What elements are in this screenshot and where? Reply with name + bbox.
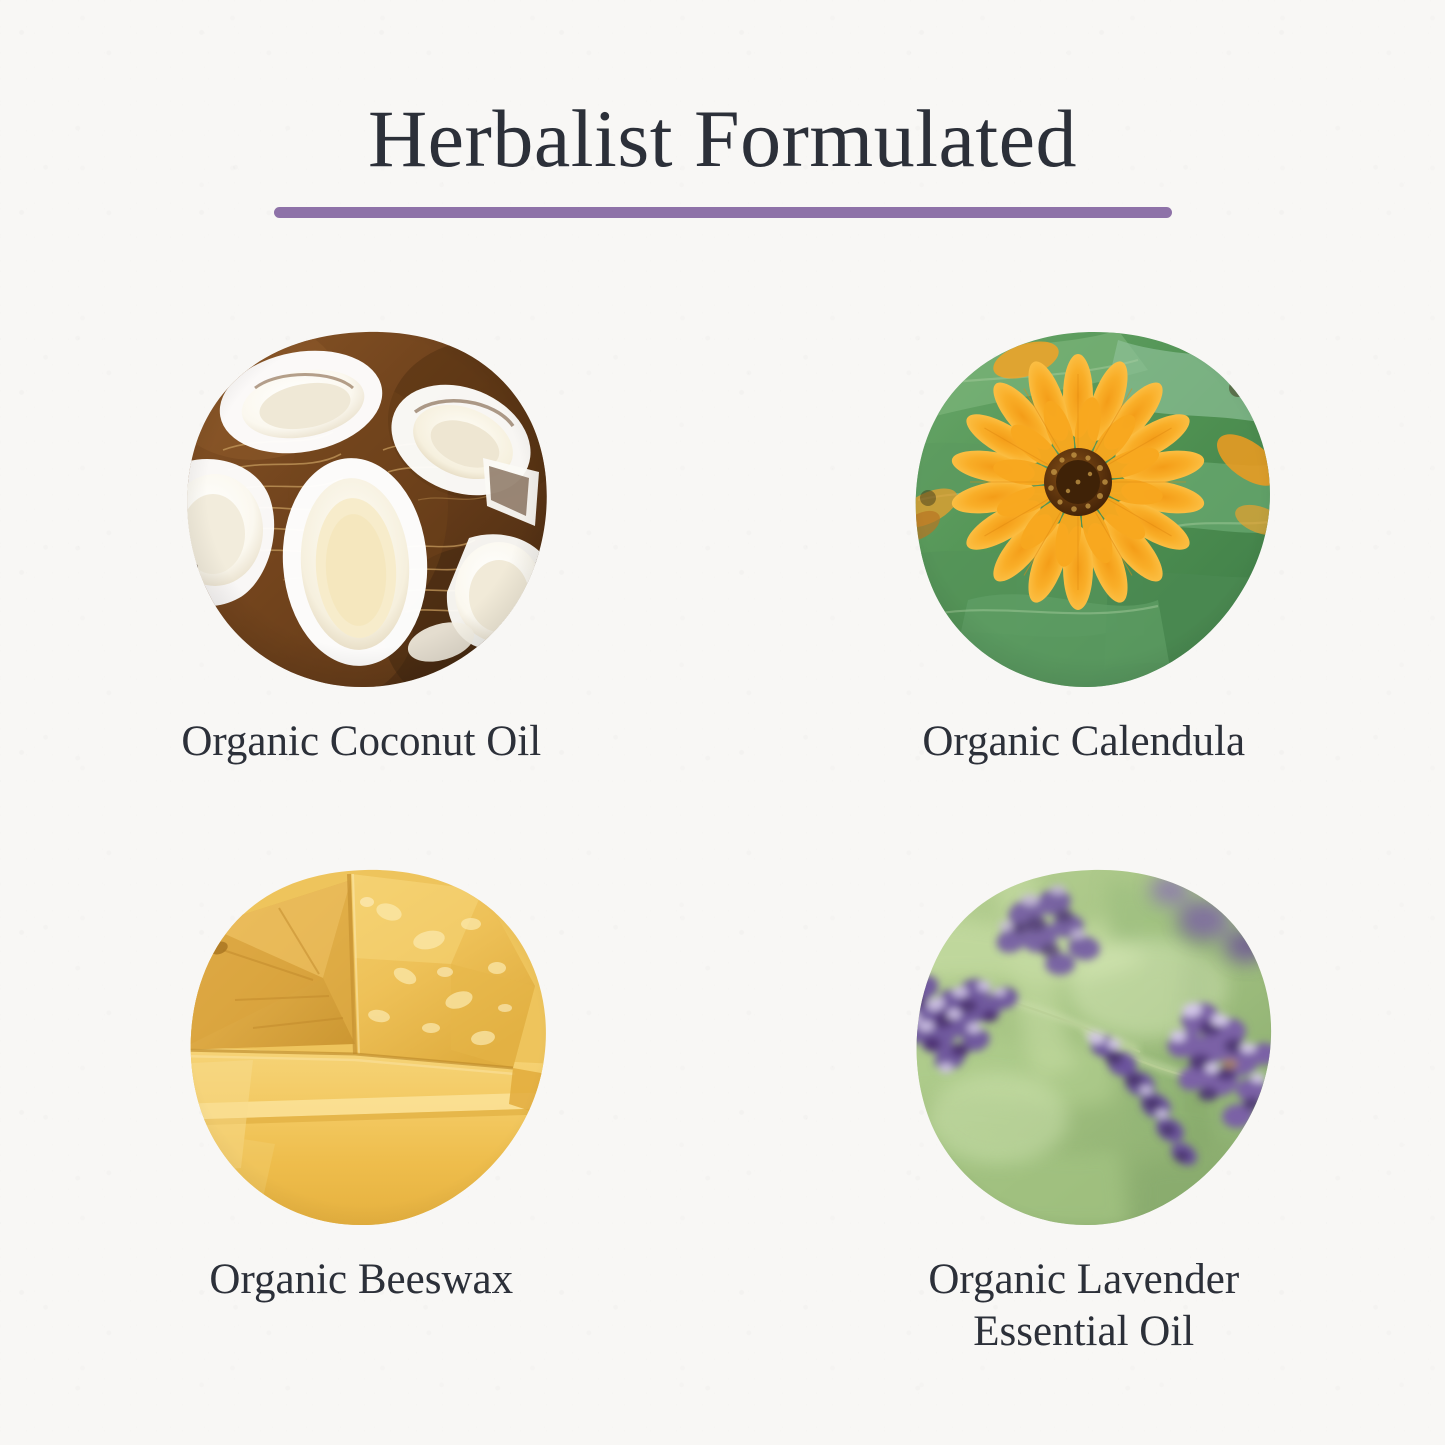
ingredient-item-beeswax: Organic Beeswax: [0, 860, 723, 1390]
ingredient-label-lavender-essential-oil: Organic Lavender Essential Oil: [928, 1254, 1239, 1359]
title-divider-rule: [274, 207, 1172, 218]
ingredient-label-line1: Organic Coconut Oil: [181, 718, 541, 765]
lavender-sprigs-photo: [908, 868, 1273, 1228]
ingredient-label-line2: Essential Oil: [928, 1306, 1239, 1358]
calendula-flower-photo: [908, 330, 1273, 690]
ingredient-label-line1: Organic Calendula: [922, 718, 1245, 765]
header: Herbalist Formulated: [0, 96, 1445, 218]
ingredient-label-line1: Organic Beeswax: [209, 1256, 513, 1303]
ingredient-item-lavender-essential-oil: Organic Lavender Essential Oil: [723, 860, 1445, 1390]
beeswax-blocks-photo: [183, 868, 548, 1228]
ingredient-label-beeswax: Organic Beeswax: [209, 1254, 513, 1306]
ingredient-grid: Organic Coconut Oil: [0, 330, 1445, 1390]
ingredient-item-coconut-oil: Organic Coconut Oil: [0, 330, 723, 860]
ingredient-label-coconut-oil: Organic Coconut Oil: [181, 716, 541, 768]
ingredient-label-calendula: Organic Calendula: [922, 716, 1245, 768]
ingredient-label-line1: Organic Lavender: [928, 1256, 1239, 1303]
ingredient-panel: Herbalist Formulated: [0, 0, 1445, 1445]
page-title: Herbalist Formulated: [0, 96, 1445, 181]
ingredient-item-calendula: Organic Calendula: [723, 330, 1445, 860]
coconut-halves-photo: [183, 330, 548, 690]
